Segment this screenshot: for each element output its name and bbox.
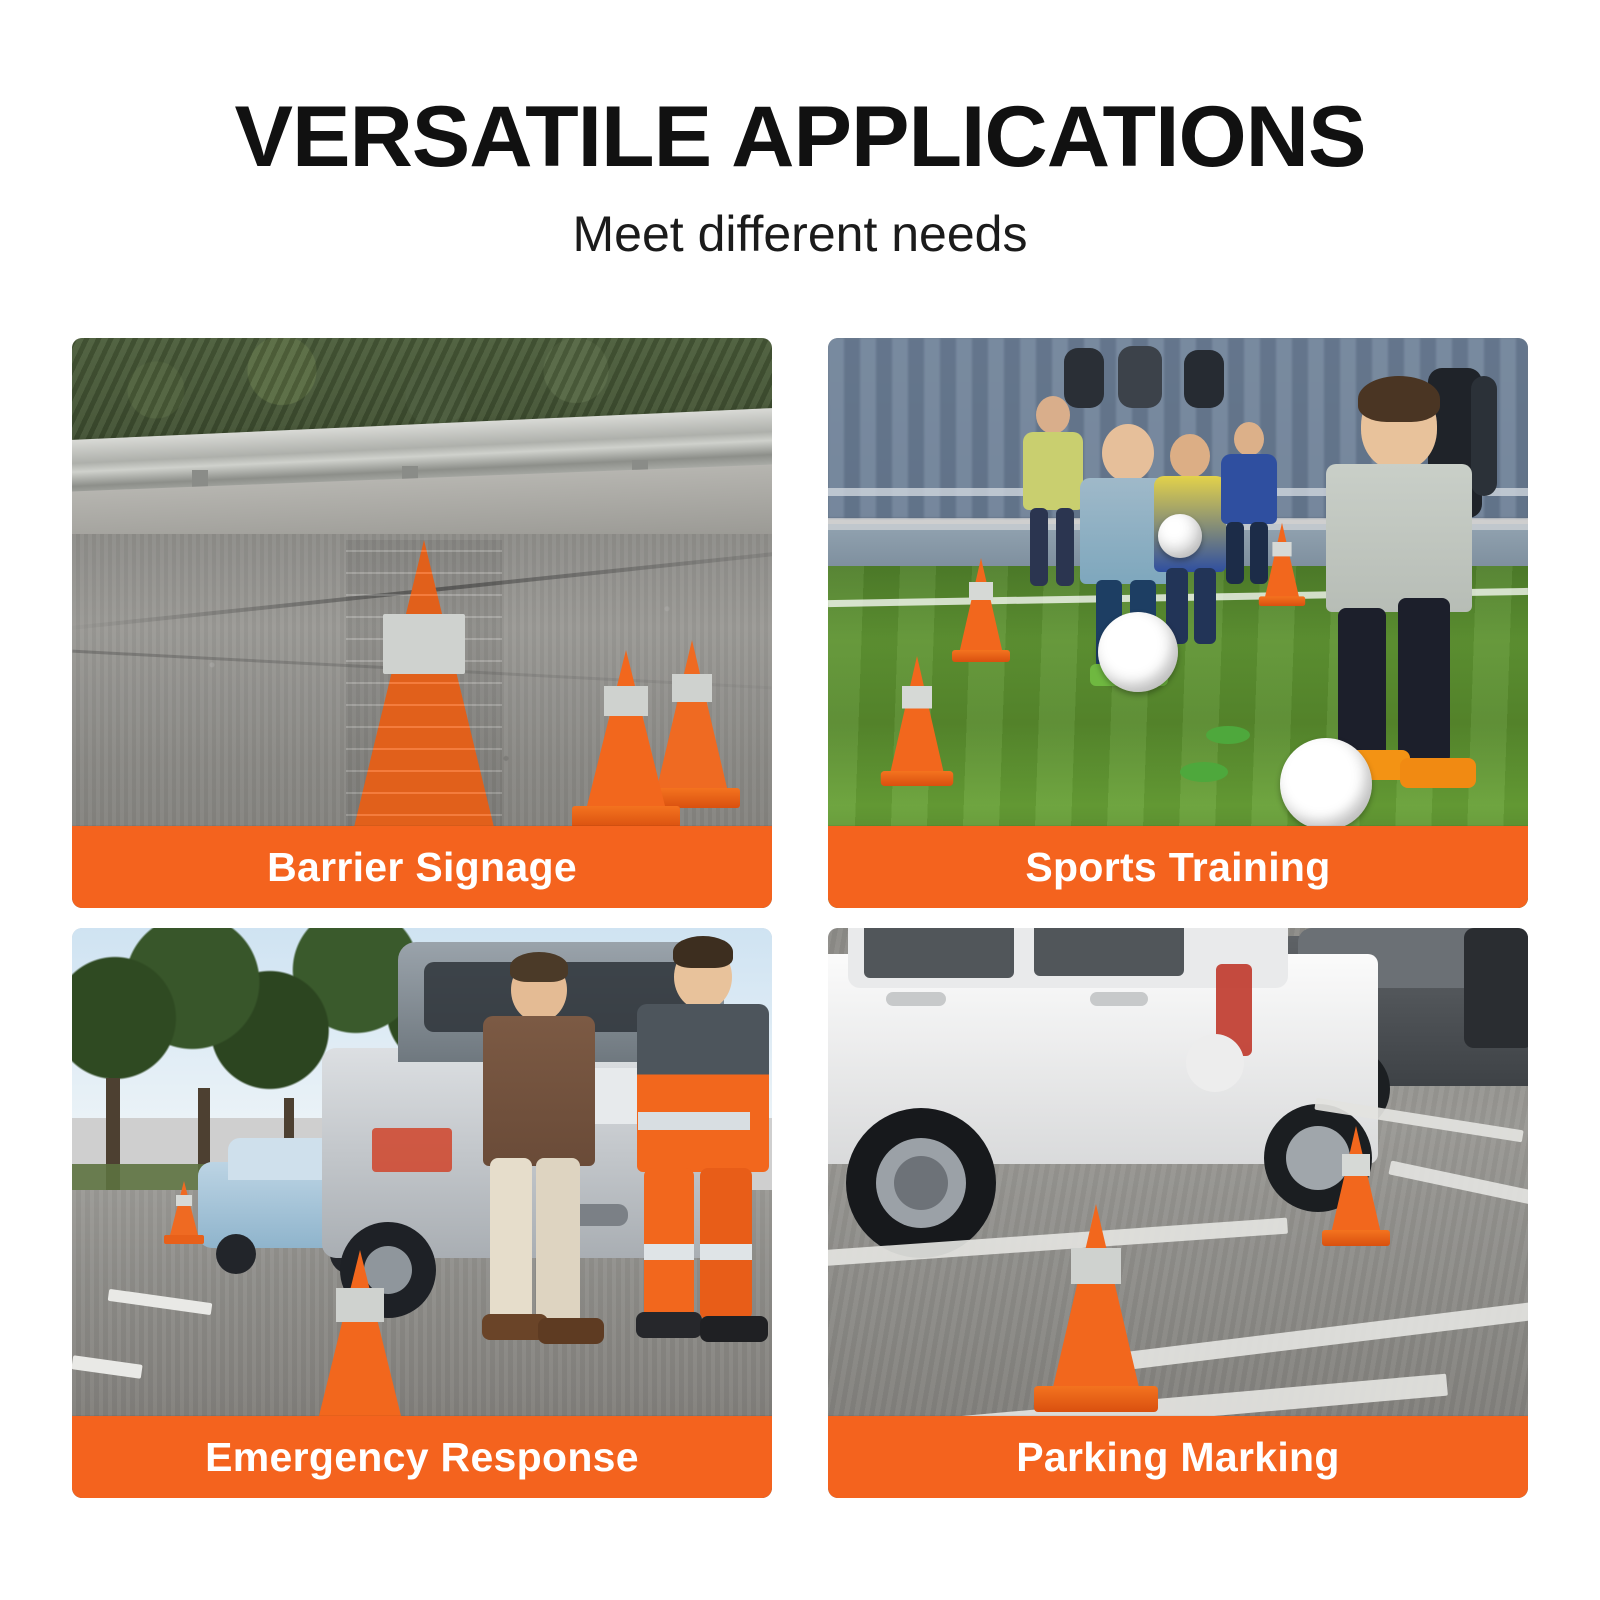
card-emergency-response[interactable]: Emergency Response xyxy=(72,928,772,1498)
car-window xyxy=(864,928,1014,978)
card-caption-emergency-response: Emergency Response xyxy=(72,1416,772,1498)
card-caption-barrier-signage: Barrier Signage xyxy=(72,826,772,908)
card-caption-sports-training: Sports Training xyxy=(828,826,1528,908)
application-grid: Barrier Signage xyxy=(72,338,1528,1498)
car-wheel xyxy=(216,1234,256,1274)
marker-disc xyxy=(1206,726,1250,744)
child-player-foreground xyxy=(1314,382,1484,802)
marker-disc xyxy=(1180,762,1228,782)
parked-car xyxy=(1464,928,1528,1048)
photo-sports-training xyxy=(828,338,1528,908)
car-decal xyxy=(372,1128,452,1172)
photo-emergency-response xyxy=(72,928,772,1498)
card-barrier-signage[interactable]: Barrier Signage xyxy=(72,338,772,908)
soccer-ball xyxy=(1098,612,1178,692)
wheel-center xyxy=(894,1156,948,1210)
door-handle xyxy=(886,992,946,1006)
training-cone xyxy=(952,550,1010,662)
header: VERSATILE APPLICATIONS Meet different ne… xyxy=(0,0,1600,263)
page-title: VERSATILE APPLICATIONS xyxy=(0,96,1600,179)
photo-parking-marking xyxy=(828,928,1528,1498)
card-caption-parking-marking: Parking Marking xyxy=(828,1416,1528,1498)
training-cone xyxy=(881,599,954,787)
card-parking-marking[interactable]: Parking Marking xyxy=(828,928,1528,1498)
soccer-ball xyxy=(1158,514,1202,558)
photo-barrier-signage xyxy=(72,338,772,908)
page-root: VERSATILE APPLICATIONS Meet different ne… xyxy=(0,0,1600,1600)
driver-person xyxy=(476,958,602,1358)
soccer-ball-foreground xyxy=(1280,738,1372,830)
door-handle xyxy=(1090,992,1148,1006)
page-subtitle: Meet different needs xyxy=(0,205,1600,263)
card-sports-training[interactable]: Sports Training xyxy=(828,338,1528,908)
training-cone xyxy=(1263,526,1301,606)
fuel-cap xyxy=(1186,1034,1244,1092)
background-spectator xyxy=(1184,350,1224,408)
traffic-cone-foreground xyxy=(302,1220,418,1440)
traffic-cone xyxy=(572,638,680,828)
traffic-cone xyxy=(164,1172,204,1244)
roadside-assistance-worker xyxy=(628,944,772,1364)
car-window xyxy=(1034,928,1184,976)
traffic-cone xyxy=(1322,1116,1390,1246)
background-spectator xyxy=(1118,346,1162,408)
traffic-cone-foreground xyxy=(1034,1172,1158,1412)
